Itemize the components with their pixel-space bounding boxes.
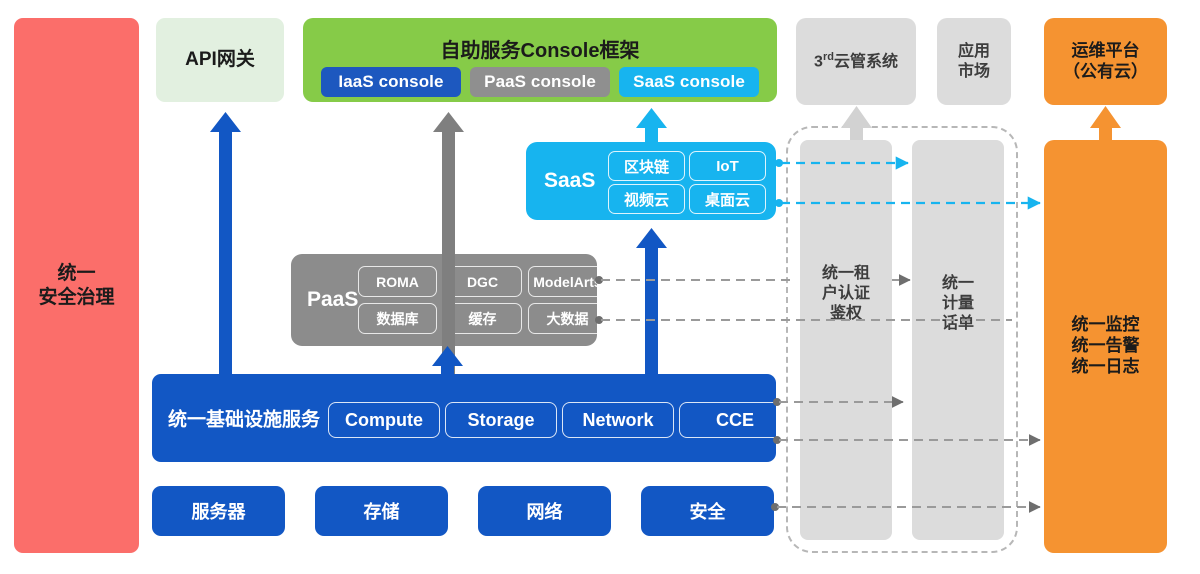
paas-service-modelarts-label: ModelArts [533, 274, 601, 290]
architecture-diagram: 统一 安全治理 API网关 自助服务Console框架 IaaS console… [0, 0, 1200, 574]
infrastructure-bar: 统一基础设施服务 Compute Storage Network CCE [152, 374, 776, 462]
hardware-network-label: 网络 [527, 498, 563, 524]
paas-service-dgc-label: DGC [467, 274, 498, 290]
third-party-suffix: 云管系统 [834, 53, 898, 70]
saas-block: SaaS 区块链 IoT 视频云 桌面云 [526, 142, 776, 220]
shared-service-column-metering [912, 140, 1004, 540]
ops-platform-card: 运维平台 （公有云） [1044, 18, 1167, 105]
paas-service-roma-label: ROMA [376, 274, 419, 290]
saas-service-desktop-cloud[interactable]: 桌面云 [689, 184, 766, 214]
third-party-superscript: rd [823, 51, 834, 63]
paas-service-database[interactable]: 数据库 [358, 303, 437, 334]
arrow-infra-to-api-gateway [210, 112, 241, 374]
saas-service-video-cloud-label: 视频云 [624, 189, 669, 210]
hardware-server: 服务器 [152, 486, 285, 536]
paas-service-bigdata-label: 大数据 [547, 309, 589, 329]
chip-saas-console-label: SaaS console [633, 72, 745, 92]
ops-platform-label: 运维平台 （公有云） [1063, 41, 1148, 82]
app-market-card: 应用 市场 [937, 18, 1011, 105]
paas-block: PaaS ROMA DGC ModelArts 数据库 缓存 大数据 [291, 254, 597, 346]
hardware-network: 网络 [478, 486, 611, 536]
arrow-infra-to-saas [636, 228, 667, 374]
security-governance-column: 统一 安全治理 [14, 18, 139, 553]
paas-service-database-label: 数据库 [377, 309, 419, 329]
arrow-ops-column-to-ops-platform [1090, 106, 1121, 140]
saas-service-desktop-cloud-label: 桌面云 [705, 189, 750, 210]
shared-service-metering-label: 统一 计量 话单 [912, 274, 1004, 334]
third-party-cloud-card: 3rd云管系统 [796, 18, 916, 105]
saas-service-blockchain-label: 区块链 [624, 156, 669, 177]
infra-service-network[interactable]: Network [562, 402, 674, 438]
saas-service-iot-label: IoT [716, 158, 739, 175]
third-party-prefix: 3 [814, 53, 823, 70]
hardware-storage: 存储 [315, 486, 448, 536]
infra-service-compute-label: Compute [345, 410, 423, 431]
shared-service-auth-label: 统一租 户认证 鉴权 [800, 264, 892, 324]
infra-service-cce[interactable]: CCE [679, 402, 791, 438]
shared-service-column-auth [800, 140, 892, 540]
chip-iaas-console-label: IaaS console [338, 72, 443, 92]
paas-service-cache-label: 缓存 [469, 309, 497, 329]
paas-service-bigdata[interactable]: 大数据 [528, 303, 607, 334]
ops-column: 统一监控 统一告警 统一日志 [1044, 140, 1167, 553]
paas-service-cache[interactable]: 缓存 [443, 303, 522, 334]
dashed-paas-to-auth [595, 276, 795, 284]
paas-service-dgc[interactable]: DGC [443, 266, 522, 297]
infra-service-network-label: Network [582, 410, 653, 431]
app-market-label: 应用 市场 [958, 42, 990, 81]
infra-service-cce-label: CCE [716, 410, 754, 431]
console-framework-card: 自助服务Console框架 IaaS console PaaS console … [303, 18, 777, 102]
console-framework-title: 自助服务Console框架 [303, 34, 777, 63]
infra-service-storage-label: Storage [467, 410, 534, 431]
paas-title: PaaS [307, 288, 358, 312]
paas-service-modelarts[interactable]: ModelArts [528, 266, 607, 297]
api-gateway-card: API网关 [156, 18, 284, 102]
infrastructure-title: 统一基础设施服务 [168, 405, 320, 432]
third-party-cloud-label: 3rd云管系统 [814, 51, 898, 72]
arrow-saas-to-saas-console [636, 108, 667, 142]
saas-service-blockchain[interactable]: 区块链 [608, 151, 685, 181]
api-gateway-label: API网关 [185, 48, 255, 71]
hardware-security-label: 安全 [690, 498, 726, 524]
infra-service-storage[interactable]: Storage [445, 402, 557, 438]
saas-service-video-cloud[interactable]: 视频云 [608, 184, 685, 214]
chip-paas-console-label: PaaS console [484, 72, 596, 92]
chip-saas-console[interactable]: SaaS console [619, 67, 759, 97]
hardware-storage-label: 存储 [364, 498, 400, 524]
saas-service-iot[interactable]: IoT [689, 151, 766, 181]
infra-service-compute[interactable]: Compute [328, 402, 440, 438]
hardware-security: 安全 [641, 486, 774, 536]
arrow-infra-to-paas [432, 346, 463, 374]
hardware-server-label: 服务器 [192, 498, 246, 524]
chip-paas-console[interactable]: PaaS console [470, 67, 610, 97]
chip-iaas-console[interactable]: IaaS console [321, 67, 461, 97]
paas-service-roma[interactable]: ROMA [358, 266, 437, 297]
ops-column-label: 统一监控 统一告警 统一日志 [1072, 315, 1140, 377]
saas-title: SaaS [544, 169, 595, 193]
security-governance-label: 统一 安全治理 [38, 262, 114, 308]
